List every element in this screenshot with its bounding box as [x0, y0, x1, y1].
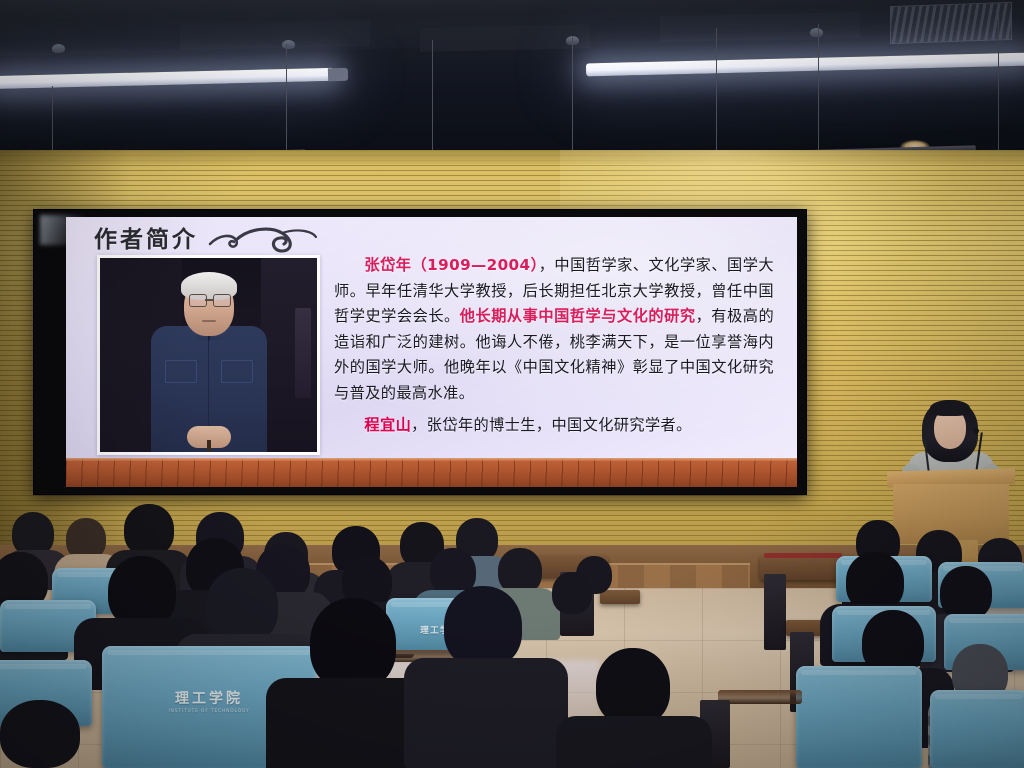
light-downrod: [572, 36, 573, 164]
seat-back[interactable]: [930, 690, 1024, 768]
portrait-pocket: [221, 360, 253, 383]
portrait-bg-shelf: [295, 308, 311, 397]
portrait-image: [100, 258, 317, 452]
ceiling-light-tube: [0, 68, 334, 89]
portrait-mouth: [202, 320, 216, 322]
ceiling-light-endcap: [328, 68, 348, 81]
run-name-dates: 张岱年（1909—2004）: [364, 256, 538, 274]
ceiling-light-tube: [586, 53, 1024, 77]
ceiling-spot-icon: [282, 40, 295, 49]
speaker-bangs: [930, 400, 970, 416]
person-head: [846, 552, 904, 612]
slide-title: 作者简介: [94, 220, 198, 254]
seat-back[interactable]: [796, 666, 922, 768]
desk-row: [600, 590, 640, 604]
portrait-pocket: [165, 360, 197, 383]
person-head: [596, 648, 670, 726]
person-shoulders: [404, 658, 568, 768]
person-head: [940, 566, 992, 620]
person-head: [310, 598, 396, 690]
light-downrod: [286, 44, 287, 162]
person-head: [124, 504, 174, 556]
light-downrod: [998, 14, 999, 154]
seat-armrest: [718, 690, 802, 704]
ceiling-panel: [420, 24, 590, 52]
glasses-icon: [213, 294, 231, 307]
person-head: [552, 572, 592, 614]
person-shoulders: [556, 716, 712, 768]
slide-body-text: 张岱年（1909—2004），中国哲学家、文化学家、国学大师。早年任清华大学教授…: [334, 253, 774, 444]
run-second-author: 程宜山: [364, 416, 411, 434]
person-head: [0, 700, 80, 768]
ceiling-panel: [660, 12, 860, 42]
slide-paragraph-2: 程宜山，张岱年的博士生，中国文化研究学者。: [334, 413, 774, 439]
hvac-vent-grille: [890, 2, 1012, 44]
ceiling-panel: [180, 20, 370, 50]
slide-paragraph-1: 张岱年（1909—2004），中国哲学家、文化学家、国学大师。早年任清华大学教授…: [334, 253, 774, 407]
auditorium-photo: 作者简介: [0, 0, 1024, 768]
light-downrod: [432, 40, 433, 162]
cloud-swirl-ornament: [206, 225, 324, 253]
presentation-slide[interactable]: 作者简介: [66, 217, 797, 487]
light-downrod: [818, 24, 819, 160]
person-head: [206, 568, 278, 644]
ceiling-spot-icon: [810, 28, 823, 37]
glasses-bridge-icon: [205, 299, 213, 301]
desk-side-panel: [764, 574, 786, 650]
microphone-head-icon: [973, 428, 979, 434]
person-head: [444, 586, 522, 668]
run-second-desc: ，张岱年的博士生，中国文化研究学者。: [411, 416, 692, 434]
slide-wood-footer: [66, 458, 797, 487]
light-downrod: [52, 86, 53, 160]
ceiling-spot-icon: [52, 44, 65, 53]
run-highlight: 他长期从事中国哲学与文化的研究: [460, 307, 696, 325]
light-downrod: [716, 28, 717, 160]
walking-cane-icon: [207, 440, 211, 452]
portrait-photo: [97, 255, 320, 455]
